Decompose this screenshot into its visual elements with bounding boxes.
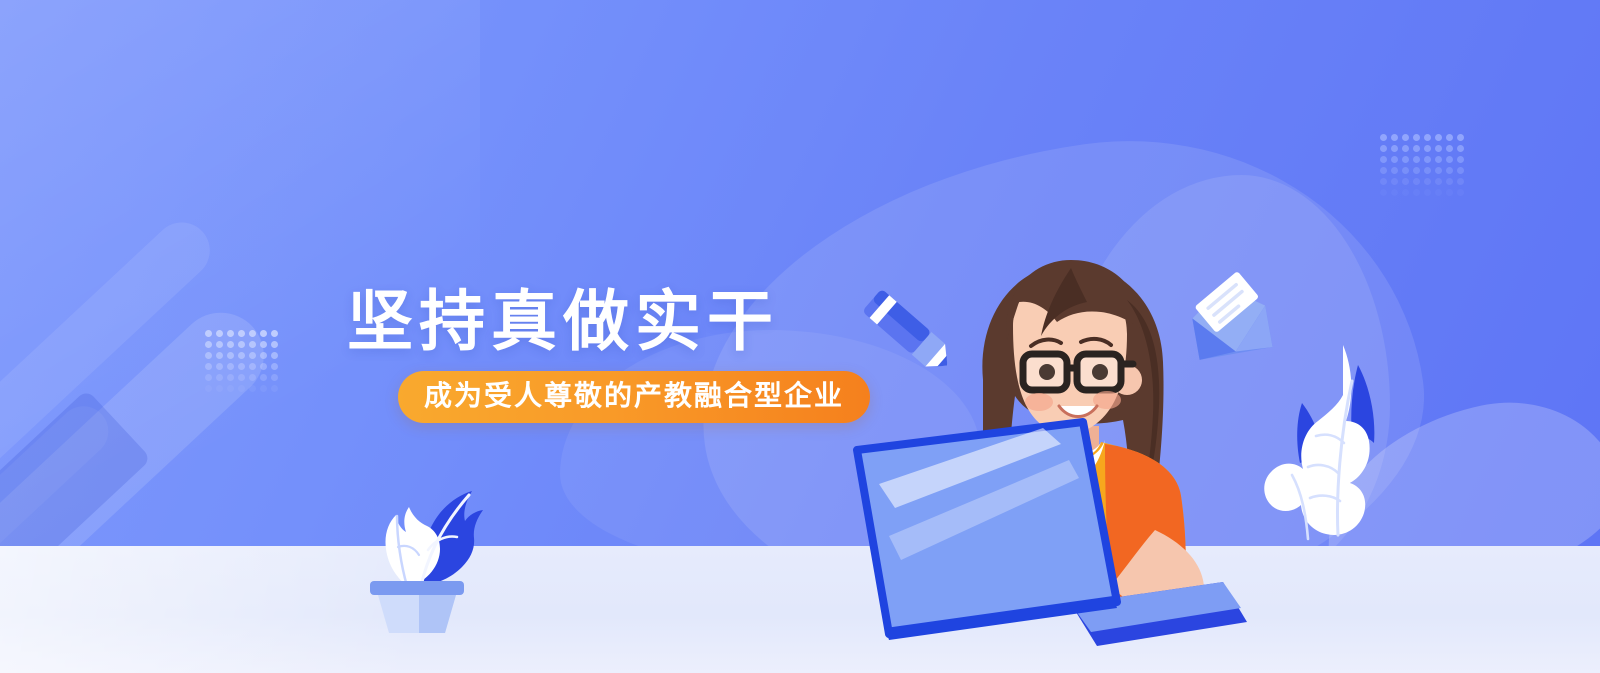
grid-dot: [260, 341, 267, 348]
potted-plant-illustration: [345, 455, 490, 635]
grid-dot: [1413, 178, 1420, 185]
grid-dot: [216, 363, 223, 370]
grid-dot: [249, 374, 256, 381]
grid-dot: [1391, 178, 1398, 185]
grid-dot: [238, 363, 245, 370]
grid-dot: [1446, 145, 1453, 152]
grid-dot: [271, 363, 278, 370]
grid-dot: [271, 341, 278, 348]
grid-dot: [1413, 134, 1420, 141]
grid-dot: [260, 385, 267, 392]
grid-dot: [1380, 178, 1387, 185]
grid-dot: [216, 352, 223, 359]
grid-dot: [1446, 178, 1453, 185]
grid-dot: [249, 352, 256, 359]
grid-dot: [1435, 178, 1442, 185]
grid-dot: [1424, 134, 1431, 141]
grid-dot: [1457, 189, 1464, 196]
grid-dot: [1435, 145, 1442, 152]
grid-dot: [1424, 145, 1431, 152]
grid-dot: [205, 385, 212, 392]
grid-dot: [1435, 167, 1442, 174]
grid-dot: [260, 363, 267, 370]
grid-dot: [227, 374, 234, 381]
grid-dot: [1457, 178, 1464, 185]
grid-dot: [260, 330, 267, 337]
grid-dot: [1413, 145, 1420, 152]
grid-dot: [1402, 134, 1409, 141]
grid-dot: [1457, 156, 1464, 163]
grid-dot: [1446, 156, 1453, 163]
grid-dot: [227, 352, 234, 359]
grid-dot: [205, 374, 212, 381]
dot-grid-left: [205, 330, 282, 396]
grid-dot: [205, 363, 212, 370]
grid-dot: [205, 352, 212, 359]
dot-grid-right: [1380, 134, 1468, 200]
hero-copy: 坚持真做实干 成为受人尊敬的产教融合型企业: [347, 283, 967, 423]
grid-dot: [1424, 178, 1431, 185]
grid-dot: [205, 341, 212, 348]
person-cheek-left: [1025, 393, 1053, 411]
grid-dot: [227, 385, 234, 392]
grid-dot: [238, 330, 245, 337]
grid-dot: [1380, 189, 1387, 196]
grid-dot: [1446, 189, 1453, 196]
grid-dot: [260, 352, 267, 359]
subtitle-pill: 成为受人尊敬的产教融合型企业: [398, 371, 870, 423]
grid-dot: [227, 330, 234, 337]
grid-dot: [1424, 167, 1431, 174]
grid-dot: [1457, 167, 1464, 174]
grid-dot: [1402, 189, 1409, 196]
grid-dot: [216, 385, 223, 392]
grid-dot: [1402, 156, 1409, 163]
grid-dot: [1435, 189, 1442, 196]
hero-banner: 坚持真做实干 成为受人尊敬的产教融合型企业: [0, 0, 1600, 673]
grid-dot: [216, 374, 223, 381]
grid-dot: [249, 330, 256, 337]
grid-dot: [238, 341, 245, 348]
grid-dot: [227, 341, 234, 348]
grid-dot: [249, 385, 256, 392]
grid-dot: [1435, 134, 1442, 141]
grid-dot: [238, 352, 245, 359]
grid-dot: [1380, 145, 1387, 152]
page-title: 坚持真做实干: [347, 283, 967, 359]
grid-dot: [1446, 167, 1453, 174]
person-eye-left: [1039, 364, 1055, 380]
grid-dot: [1424, 156, 1431, 163]
grid-dot: [1402, 145, 1409, 152]
grid-dot: [1413, 167, 1420, 174]
grid-dot: [205, 330, 212, 337]
grid-dot: [1424, 189, 1431, 196]
plant-pot-shadow: [419, 595, 456, 633]
grid-dot: [1380, 134, 1387, 141]
grid-dot: [1380, 167, 1387, 174]
grid-dot: [1391, 134, 1398, 141]
grid-dot: [249, 341, 256, 348]
grid-dot: [271, 385, 278, 392]
grid-dot: [238, 385, 245, 392]
grid-dot: [1391, 156, 1398, 163]
plant-pot-rim: [370, 581, 464, 595]
grid-dot: [227, 363, 234, 370]
person-eye-right: [1092, 364, 1108, 380]
grid-dot: [1391, 145, 1398, 152]
grid-dot: [249, 363, 256, 370]
grid-dot: [216, 330, 223, 337]
grid-dot: [1413, 156, 1420, 163]
grid-dot: [1402, 178, 1409, 185]
grid-dot: [1446, 134, 1453, 141]
foliage-leaf-white-main: [1264, 345, 1369, 535]
grid-dot: [1435, 156, 1442, 163]
grid-dot: [260, 374, 267, 381]
grid-dot: [1413, 189, 1420, 196]
grid-dot: [1457, 145, 1464, 152]
grid-dot: [271, 330, 278, 337]
grid-dot: [1402, 167, 1409, 174]
grid-dot: [1391, 189, 1398, 196]
grid-dot: [216, 341, 223, 348]
grid-dot: [1391, 167, 1398, 174]
grid-dot: [1380, 156, 1387, 163]
grid-dot: [1457, 134, 1464, 141]
grid-dot: [271, 374, 278, 381]
grid-dot: [238, 374, 245, 381]
grid-dot: [271, 352, 278, 359]
